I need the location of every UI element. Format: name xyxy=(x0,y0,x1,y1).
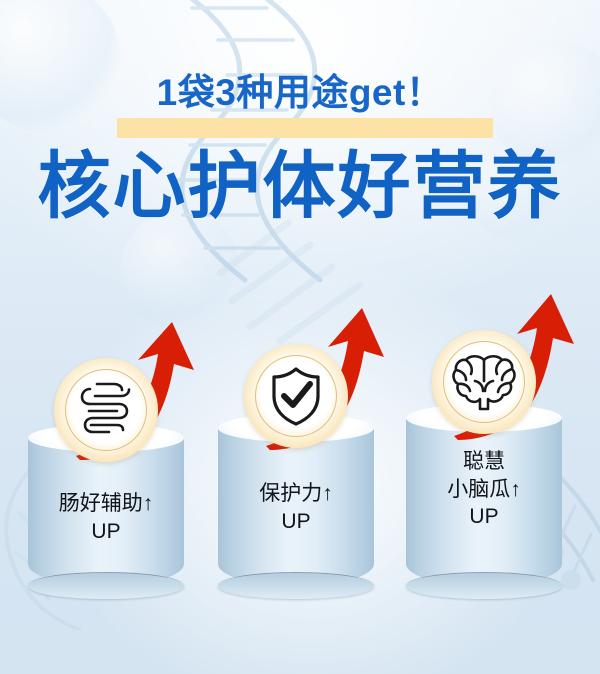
benefit-pillar-gut: 肠好辅助↑ UP xyxy=(28,438,184,586)
pillar-label-line: 保护力↑ xyxy=(218,480,374,508)
pillar-label-brain: 聪慧 小脑瓜↑ UP xyxy=(406,448,562,531)
cylinder-bottom-edge xyxy=(28,572,184,599)
pillar-label-line: UP xyxy=(406,503,562,531)
benefit-pillar-immunity: 保护力↑ UP xyxy=(218,428,374,586)
subtitle-text: 1袋3种用途get！ xyxy=(149,74,452,111)
pillar-label-line: 聪慧 xyxy=(406,448,562,476)
subtitle-highlight-bar xyxy=(117,118,493,138)
pillar-label-line: 肠好辅助↑ xyxy=(28,490,184,518)
pillar-label-line: 小脑瓜↑ xyxy=(406,476,562,504)
pillar-label-immunity: 保护力↑ UP xyxy=(218,480,374,535)
medallion-immunity xyxy=(244,344,348,448)
bokeh-circle xyxy=(0,0,120,132)
shield-check-icon xyxy=(260,360,332,432)
promo-poster: 1袋3种用途get！ 核心护体好营养 xyxy=(0,0,600,674)
medallion-gut xyxy=(54,358,158,462)
page-title: 核心护体好营养 xyxy=(0,150,600,223)
pillar-label-line: UP xyxy=(218,508,374,536)
headline-block: 1袋3种用途get！ xyxy=(0,74,600,111)
benefit-pillar-brain: 聪慧 小脑瓜↑ UP xyxy=(406,418,562,586)
medallion-brain xyxy=(432,330,536,434)
brain-icon xyxy=(448,346,520,418)
pillar-label-line: UP xyxy=(28,518,184,546)
cylinder-bottom-edge xyxy=(218,572,374,599)
bokeh-circle xyxy=(120,210,240,330)
dna-helix-icon xyxy=(150,0,380,290)
pillar-label-gut: 肠好辅助↑ UP xyxy=(28,490,184,545)
cylinder-bottom-edge xyxy=(406,572,562,599)
intestine-icon xyxy=(70,374,142,446)
